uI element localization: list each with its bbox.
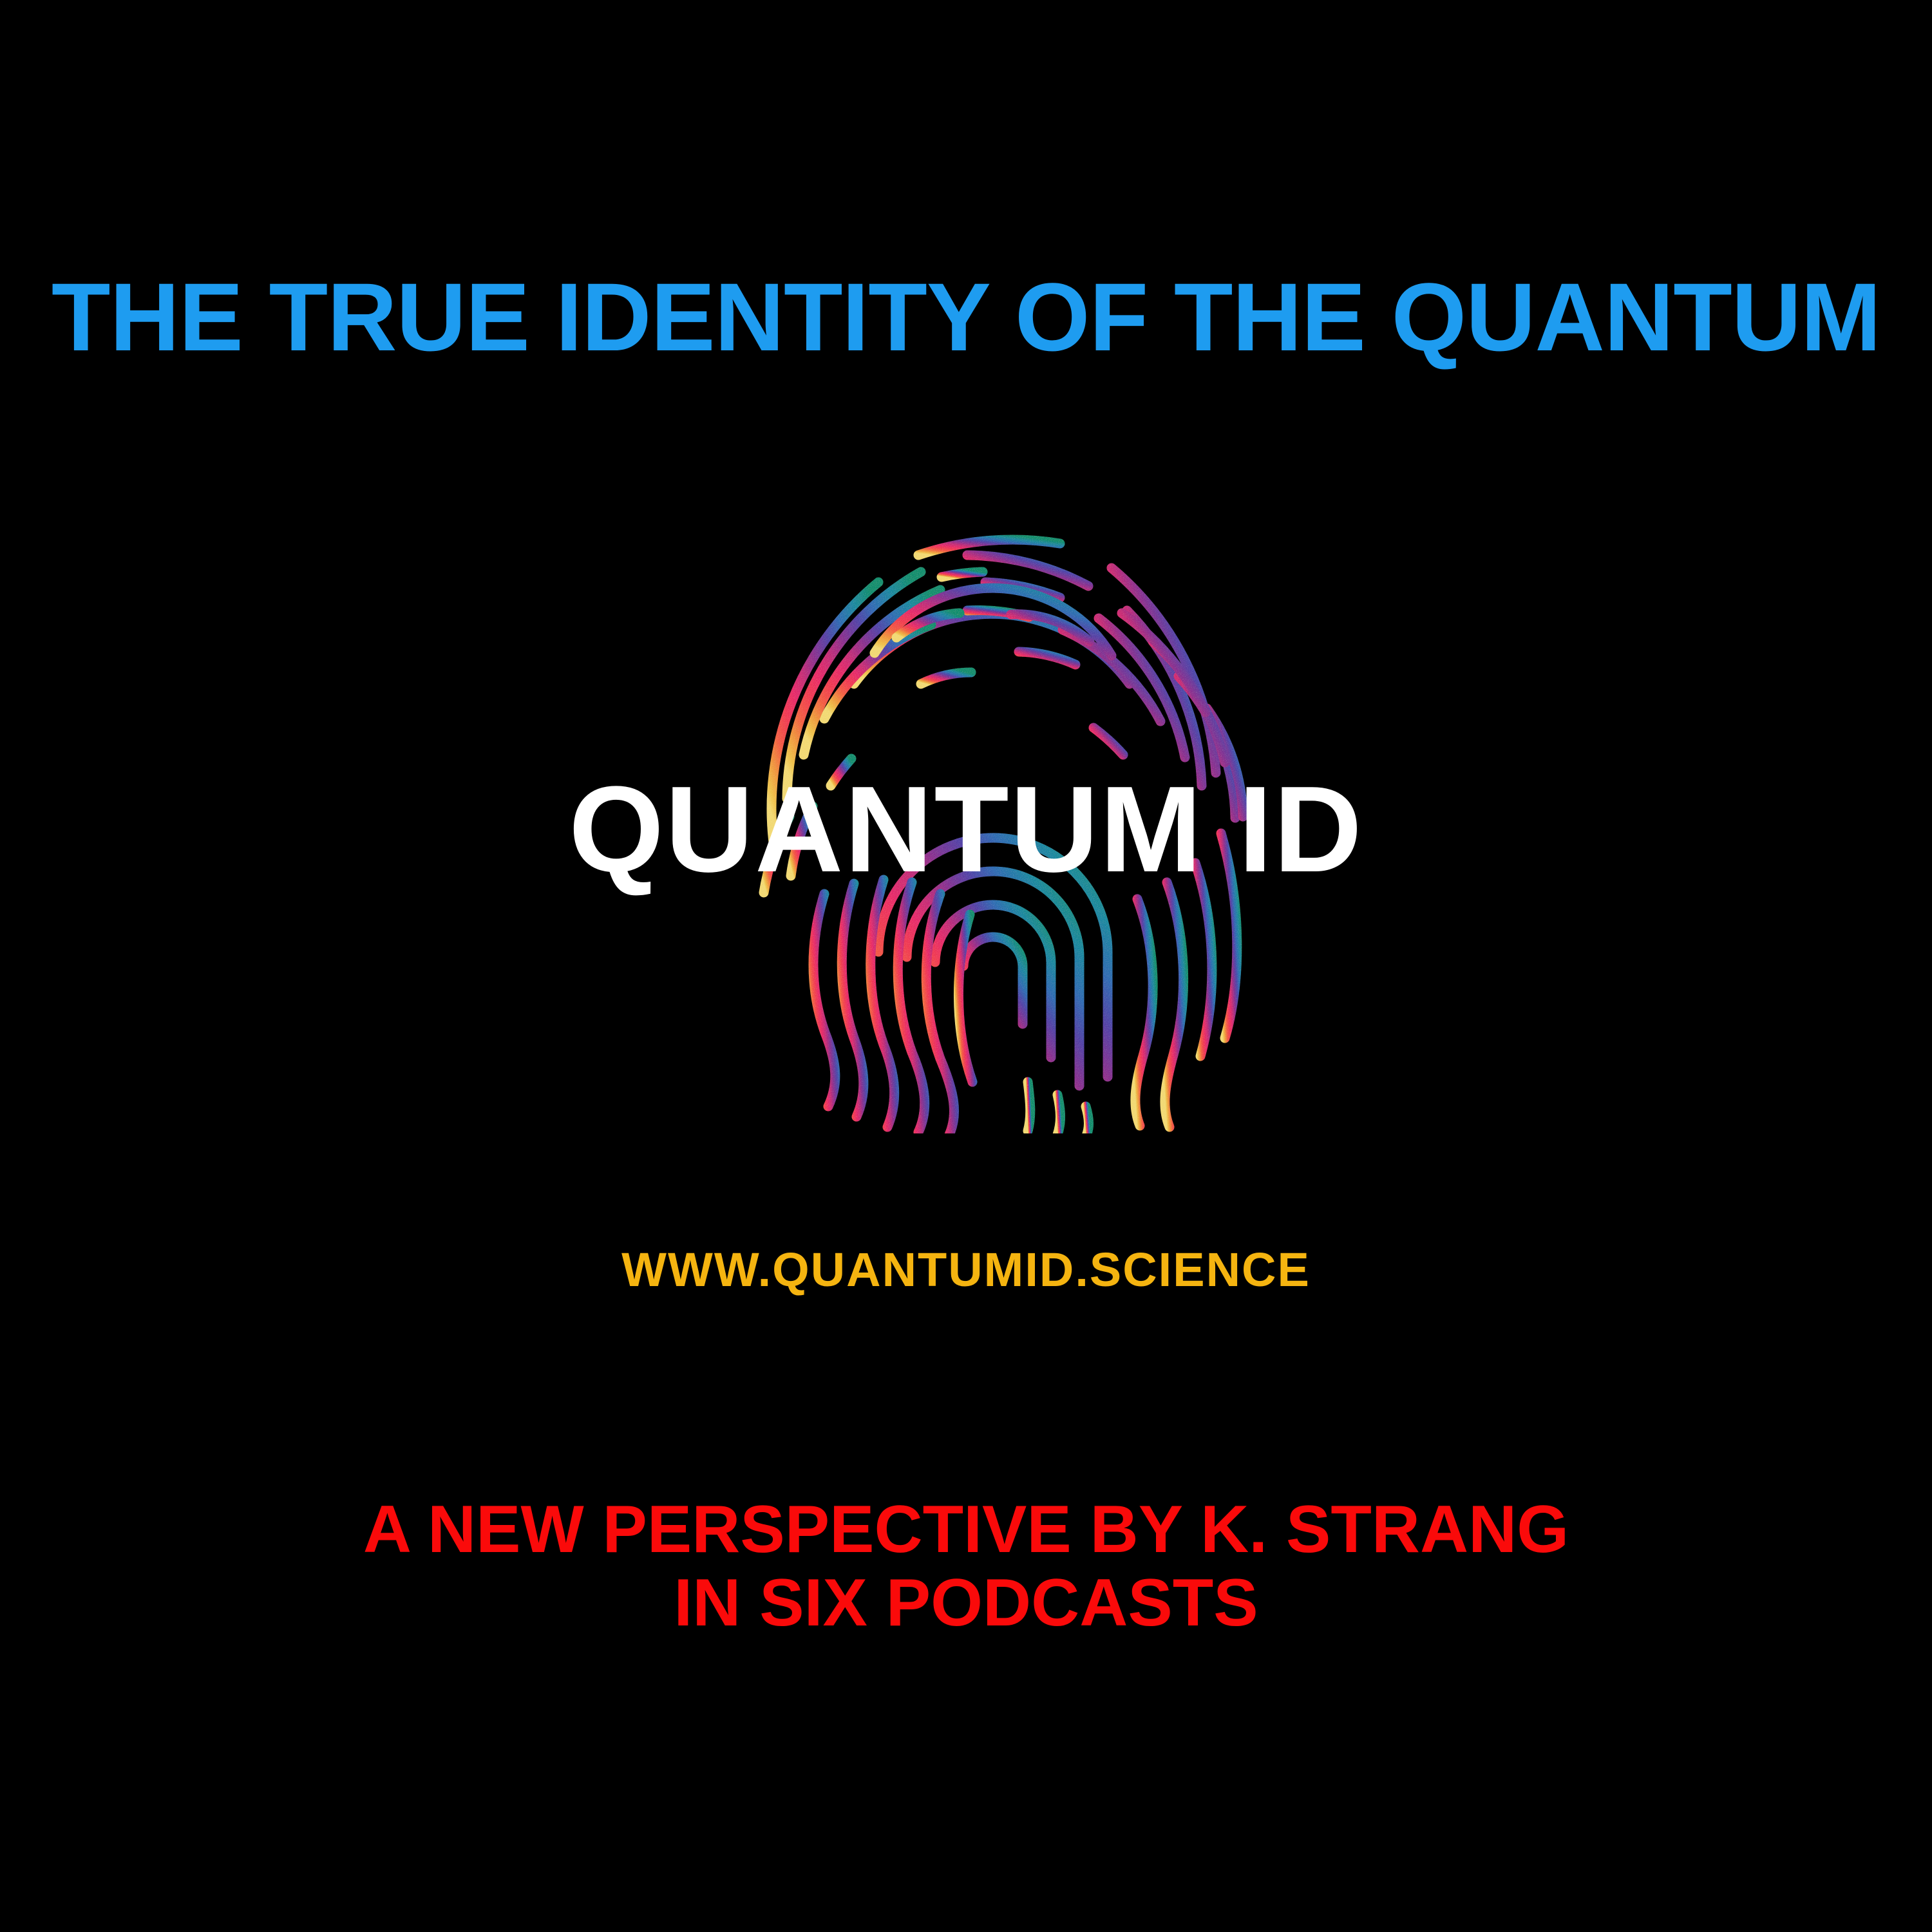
page-title: THE TRUE IDENTITY OF THE QUANTUM: [0, 265, 1932, 368]
brand-wordmark: QUANTUM ID: [0, 766, 1932, 893]
credit-block: A NEW PERSPECTIVE BY K. STRANG IN SIX PO…: [0, 1493, 1932, 1640]
credit-line-author: A NEW PERSPECTIVE BY K. STRANG: [363, 1492, 1569, 1567]
website-url[interactable]: WWW.QUANTUMID.SCIENCE: [0, 1243, 1932, 1297]
podcast-cover-art: THE TRUE IDENTITY OF THE QUANTUM: [0, 0, 1932, 1932]
credit-line-episodes: IN SIX PODCASTS: [0, 1566, 1932, 1640]
